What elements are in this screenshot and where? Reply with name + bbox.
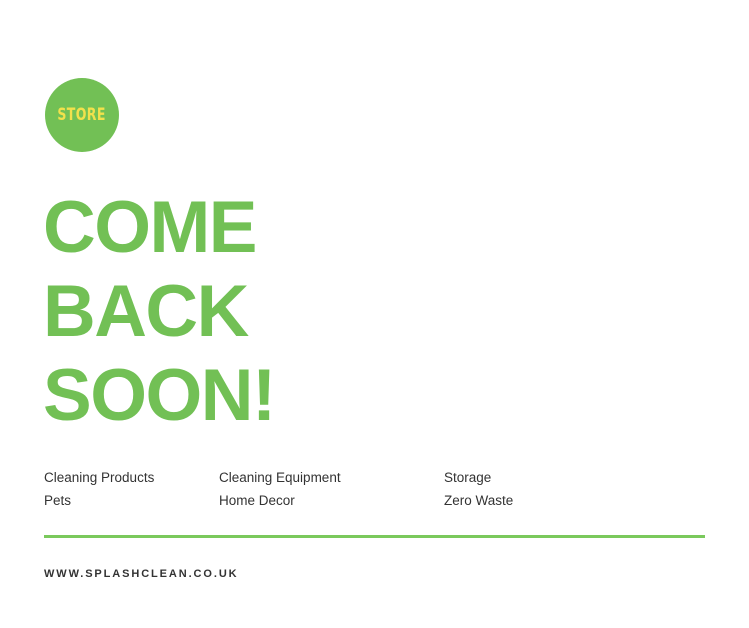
category-column-1: Cleaning Products Pets: [44, 466, 219, 512]
category-link-cleaning-products[interactable]: Cleaning Products: [44, 466, 219, 489]
category-link-pets[interactable]: Pets: [44, 489, 219, 512]
headline-line-1: COME: [43, 186, 275, 270]
category-column-2: Cleaning Equipment Home Decor: [219, 466, 444, 512]
store-logo-label: STORE: [58, 107, 107, 124]
come-back-soon-page: STORE COME BACK SOON! Cleaning Products …: [0, 0, 749, 628]
page-title: COME BACK SOON!: [43, 186, 275, 438]
headline-line-3: SOON!: [43, 354, 275, 438]
category-link-zero-waste[interactable]: Zero Waste: [444, 489, 624, 512]
website-url[interactable]: WWW.SPLASHCLEAN.CO.UK: [44, 568, 239, 580]
headline-line-2: BACK: [43, 270, 275, 354]
category-link-cleaning-equipment[interactable]: Cleaning Equipment: [219, 466, 444, 489]
horizontal-divider: [44, 535, 705, 538]
category-column-3: Storage Zero Waste: [444, 466, 624, 512]
category-links: Cleaning Products Pets Cleaning Equipmen…: [44, 466, 644, 512]
category-link-storage[interactable]: Storage: [444, 466, 624, 489]
store-logo-badge[interactable]: STORE: [45, 78, 119, 152]
category-link-home-decor[interactable]: Home Decor: [219, 489, 444, 512]
